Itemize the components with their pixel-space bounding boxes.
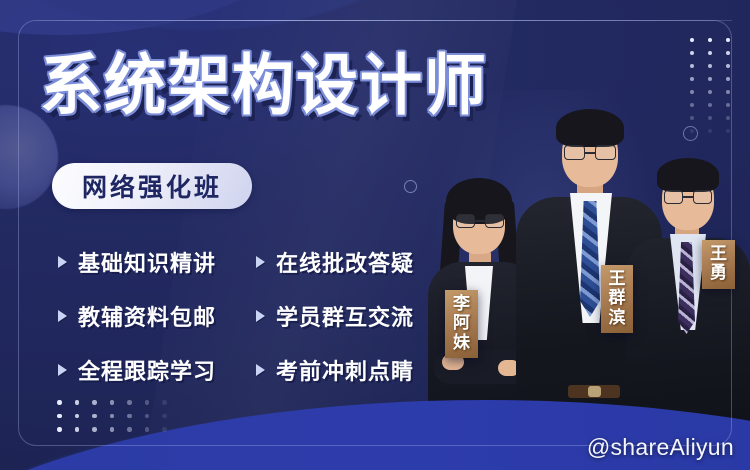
feature-label: 在线批改答疑	[276, 246, 414, 278]
feature-label: 学员群互交流	[276, 300, 414, 332]
decor-circle-outline-left	[404, 180, 417, 193]
necktie	[678, 242, 695, 334]
triangle-right-icon	[58, 310, 67, 322]
feature-item: 在线批改答疑	[256, 246, 454, 278]
feature-label: 考前冲刺点睛	[276, 354, 414, 386]
feature-item: 基础知识精讲	[58, 246, 256, 278]
glasses-icon	[664, 190, 712, 204]
course-promo-banner: 系统架构设计师 网络强化班 基础知识精讲 在线批改答疑 教辅资料包邮 学员群互交…	[0, 0, 750, 470]
instructor-name-plate: 王 群 滨	[601, 265, 633, 333]
instructor-name-char: 王	[609, 270, 626, 289]
instructor-name-plate: 王 勇	[702, 240, 735, 289]
necktie	[580, 201, 600, 317]
feature-label: 全程跟踪学习	[78, 354, 216, 386]
instructor-name-char: 勇	[710, 264, 727, 283]
triangle-right-icon	[58, 256, 67, 268]
feature-label: 教辅资料包邮	[78, 300, 216, 332]
watermark: @shareAliyun	[587, 434, 734, 461]
course-type-badge-label: 网络强化班	[82, 168, 222, 204]
instructor-name-char: 滨	[609, 309, 626, 328]
course-type-badge: 网络强化班	[52, 163, 252, 209]
glasses-icon	[564, 145, 616, 160]
instructor-name-char: 李	[453, 295, 470, 314]
hair-top	[657, 158, 719, 192]
instructor-name-char: 妹	[453, 334, 470, 353]
instructor-name-char: 群	[609, 289, 626, 308]
triangle-right-icon	[256, 310, 265, 322]
belt-buckle	[588, 386, 601, 397]
triangle-right-icon	[256, 256, 265, 268]
hair-top	[556, 109, 624, 147]
page-title: 系统架构设计师	[40, 53, 488, 119]
feature-item: 教辅资料包邮	[58, 300, 256, 332]
feature-label: 基础知识精讲	[78, 246, 216, 278]
glasses-icon	[456, 214, 504, 228]
instructor-name-char: 阿	[453, 314, 470, 333]
feature-item: 学员群互交流	[256, 300, 454, 332]
feature-list: 基础知识精讲 在线批改答疑 教辅资料包邮 学员群互交流 全程跟踪学习 考前冲刺点…	[58, 246, 454, 386]
triangle-right-icon	[58, 364, 67, 376]
dot-grid-top-right	[690, 38, 730, 133]
instructor-name-plate: 李 阿 妹	[445, 290, 478, 358]
feature-item: 全程跟踪学习	[58, 354, 256, 386]
instructor-name-char: 王	[710, 245, 727, 264]
dot-grid-bottom-left	[57, 400, 167, 432]
triangle-right-icon	[256, 364, 265, 376]
decorative-frame-highlight	[18, 20, 732, 21]
feature-item: 考前冲刺点睛	[256, 354, 454, 386]
